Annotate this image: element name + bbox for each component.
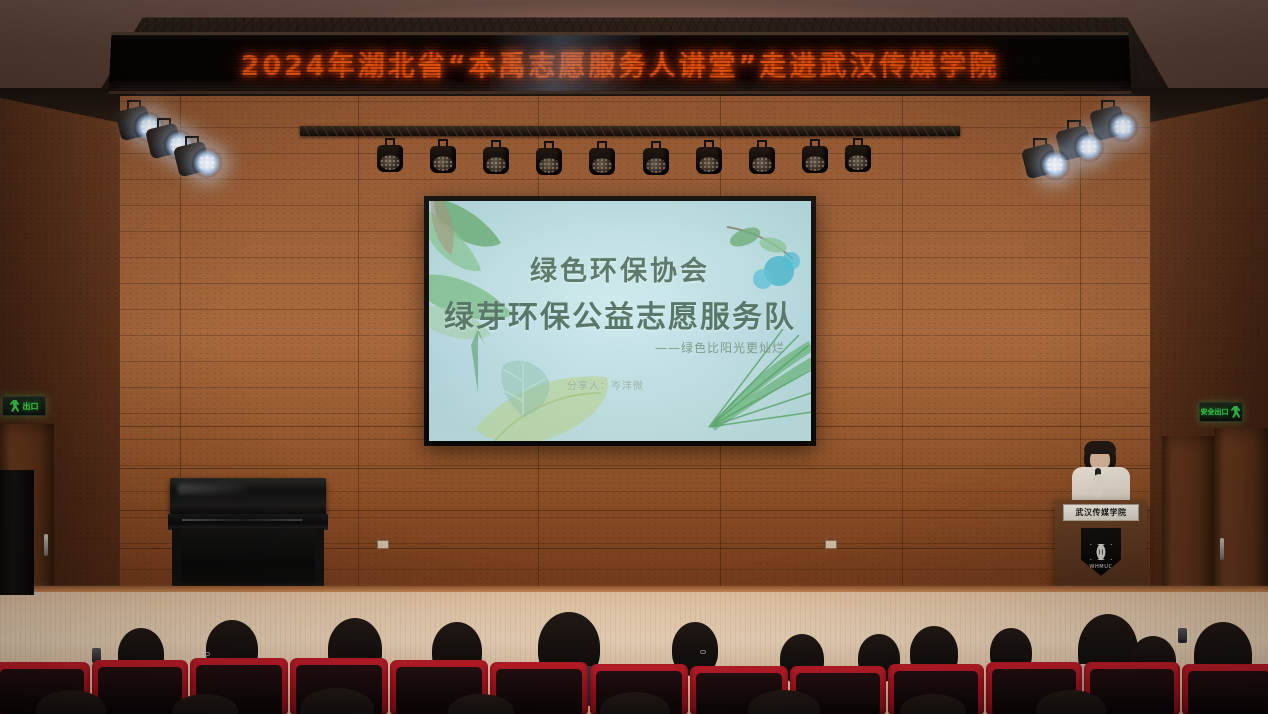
lighting-truss: [300, 126, 960, 136]
door-handle-icon: [1220, 538, 1224, 560]
door-handle-icon: [44, 534, 48, 556]
slide-title-block: 绿色环保协会 绿芽环保公益志愿服务队: [429, 249, 811, 336]
auditorium-seat[interactable]: [1182, 664, 1268, 714]
university-emblem-icon: WHMUC: [1081, 528, 1121, 576]
running-man-icon: [1231, 406, 1242, 419]
par-light-icon: [481, 140, 511, 176]
par-light-icon: [800, 139, 830, 175]
par-light-icon: [375, 138, 405, 174]
par-light-icon: [534, 141, 564, 177]
slide-title-line2: 绿芽环保公益志愿服务队: [429, 292, 811, 336]
wall-socket-plate: [825, 540, 837, 549]
auditorium-scene: 2024年湖北省“本禹志愿服务人讲堂”走进武汉传媒学院 出口 安全出口: [0, 0, 1268, 714]
par-light-icon: [694, 140, 724, 176]
stage-spotlight-icon: [176, 140, 220, 186]
podium-institution-label: 武汉传媒学院: [1076, 507, 1127, 518]
par-light-icon: [587, 141, 617, 177]
par-light-icon: [428, 139, 458, 175]
wall-socket-plate: [377, 540, 389, 549]
led-banner: 2024年湖北省“本禹志愿服务人讲堂”走进武汉传媒学院: [108, 32, 1131, 94]
slide-title-line1: 绿色环保协会: [429, 249, 811, 288]
speaker-person: [1062, 441, 1138, 503]
upright-piano: [168, 478, 328, 596]
exit-sign-right: 安全出口: [1199, 402, 1243, 422]
monstera-illustration: [489, 347, 559, 419]
running-man-icon: [10, 400, 21, 413]
led-reflection: [490, 35, 640, 91]
stage-spotlight-icon: [1024, 142, 1068, 188]
projection-screen: 绿色环保协会 绿芽环保公益志愿服务队 ——绿色比阳光更灿烂 分享人：岑洋微: [429, 201, 811, 441]
door-right-inner[interactable]: [1162, 436, 1214, 606]
podium-nameplate: 武汉传媒学院: [1063, 504, 1139, 521]
stage-curtain: [0, 470, 34, 595]
exit-sign-left-label: 出口: [23, 401, 39, 412]
slide-subtitle: ——绿色比阳光更灿烂: [655, 339, 785, 356]
eyeglasses-icon: [204, 652, 210, 656]
eyeglasses-icon: [700, 650, 706, 654]
par-light-icon: [843, 138, 873, 174]
par-light-icon: [641, 141, 671, 177]
par-light-icon: [747, 140, 777, 176]
phone-icon[interactable]: [1178, 628, 1187, 643]
emblem-acronym: WHMUC: [1081, 564, 1121, 570]
slide-presenter: 分享人：岑洋微: [567, 377, 644, 392]
exit-sign-left: 出口: [2, 396, 46, 416]
projection-screen-frame: 绿色环保协会 绿芽环保公益志愿服务队 ——绿色比阳光更灿烂 分享人：岑洋微: [424, 196, 816, 446]
exit-sign-right-label: 安全出口: [1201, 407, 1229, 417]
